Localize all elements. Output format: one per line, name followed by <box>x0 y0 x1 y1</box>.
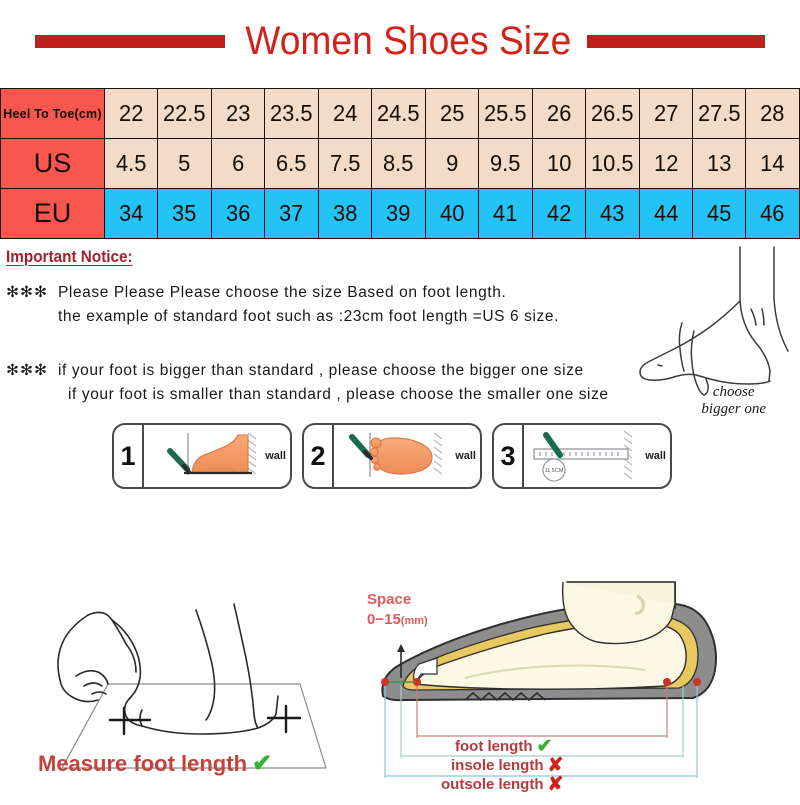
cell-value: 46 <box>748 200 798 227</box>
cell-eu-7: 41 <box>479 189 532 239</box>
cell-us-6: 9 <box>425 139 478 189</box>
notice-heading: Important Notice: <box>6 247 133 267</box>
step-illustration-top-foot: wall <box>334 425 480 487</box>
cell-eu-9: 43 <box>586 189 639 239</box>
check-icon: ✔ <box>252 750 272 777</box>
page-title-band: Women Shoes Size <box>0 0 800 88</box>
cell-eu-8: 42 <box>532 189 585 239</box>
measure-foot-panel: Measure foot length✔ <box>0 568 345 800</box>
cell-us-5: 8.5 <box>372 139 425 189</box>
cell-us-7: 9.5 <box>479 139 532 189</box>
cell-value: 7.5 <box>320 150 370 177</box>
step-card-1: 1 <box>112 423 292 489</box>
cell-value: 14 <box>748 150 798 177</box>
cell-us-3: 6.5 <box>265 139 318 189</box>
cell-value: 28 <box>748 100 798 127</box>
notice-text: Please Please Please choose the size Bas… <box>58 284 506 301</box>
cell-value: 34 <box>106 200 156 227</box>
cell-us-10: 12 <box>639 139 692 189</box>
size-chart-table: Heel To Toe(cm) 22 22.5 23 23.5 24 24.5 … <box>0 88 800 239</box>
notice-text: if your foot is bigger than standard , p… <box>58 362 584 379</box>
table-row: EU 34 35 36 37 38 39 40 41 42 43 44 45 4… <box>1 189 800 239</box>
dimension-labels: foot length ✔ insole length ✘ outsole le… <box>441 737 781 794</box>
step-number: 2 <box>304 425 334 487</box>
important-notice-section: Important Notice: ✻✻✻Please Please Pleas… <box>0 239 800 407</box>
cell-value: 8.5 <box>374 150 424 177</box>
cross-icon: ✘ <box>548 756 564 775</box>
cell-value: 41 <box>480 200 530 227</box>
size-chart-body: Heel To Toe(cm) 22 22.5 23 23.5 24 24.5 … <box>1 89 800 239</box>
cell-value: 5 <box>160 150 210 177</box>
cell-heel-3: 23.5 <box>265 89 318 139</box>
dimension-label: insole length <box>451 757 544 775</box>
cell-value: 45 <box>694 200 744 227</box>
cell-us-4: 7.5 <box>318 139 371 189</box>
cell-value: 24 <box>320 100 370 127</box>
cell-eu-12: 46 <box>746 189 800 239</box>
cell-value: 4.5 <box>106 150 156 177</box>
space-callout: Space 0−15(mm) <box>367 590 428 631</box>
cell-value: 13 <box>694 150 744 177</box>
step-card-3: 3 <box>492 423 672 489</box>
cell-heel-12: 28 <box>746 89 800 139</box>
cell-value: 26.5 <box>587 100 637 127</box>
table-row: Heel To Toe(cm) 22 22.5 23 23.5 24 24.5 … <box>1 89 800 139</box>
cell-value: 24.5 <box>374 100 424 127</box>
cell-value: 39 <box>374 200 424 227</box>
cell-value: 27 <box>641 100 691 127</box>
dimension-row-outsole-length: outsole length ✘ <box>441 775 781 794</box>
cell-value: 25 <box>427 100 477 127</box>
cell-value: 38 <box>320 200 370 227</box>
step-card-2: 2 <box>302 423 482 489</box>
cell-heel-10: 27 <box>639 89 692 139</box>
row-header-heel-to-toe: Heel To Toe(cm) <box>1 89 105 139</box>
cell-heel-8: 26 <box>532 89 585 139</box>
bullet-asterisks-icon: ✻✻✻ <box>6 362 48 379</box>
cell-eu-1: 35 <box>158 189 211 239</box>
cell-us-9: 10.5 <box>586 139 639 189</box>
cell-value: 22 <box>106 100 156 127</box>
step-illustration-ruler: 11.5CM wall <box>524 425 670 487</box>
dimension-label: outsole length <box>441 776 544 794</box>
shoe-cross-section-panel: Space 0−15(mm) foot length ✔ insole leng… <box>345 568 800 800</box>
cell-value: 10.5 <box>587 150 637 177</box>
cell-value: 22.5 <box>160 100 210 127</box>
table-row: US 4.5 5 6 6.5 7.5 8.5 9 9.5 10 10.5 12 … <box>1 139 800 189</box>
check-icon: ✔ <box>536 737 552 756</box>
dimension-label: foot length <box>455 738 532 756</box>
bottom-illustrations: Measure foot length✔ <box>0 568 800 800</box>
cell-heel-0: 22 <box>105 89 158 139</box>
notice-line: the example of standard foot such as :23… <box>6 305 800 329</box>
row-header-us: US <box>1 139 105 189</box>
notice-block-2: ✻✻✻if your foot is bigger than standard … <box>6 359 800 407</box>
cell-heel-4: 24 <box>318 89 371 139</box>
cell-value: 42 <box>534 200 584 227</box>
wall-label: wall <box>455 450 476 462</box>
space-title: Space <box>367 590 428 610</box>
cell-eu-5: 39 <box>372 189 425 239</box>
ruler-mark-text: 11.5CM <box>545 468 564 474</box>
cell-value: 23 <box>213 100 263 127</box>
cell-eu-10: 44 <box>639 189 692 239</box>
cell-eu-0: 34 <box>105 189 158 239</box>
step-number: 1 <box>114 425 144 487</box>
space-unit: (mm) <box>401 615 428 627</box>
cell-us-1: 5 <box>158 139 211 189</box>
step-illustration-side-foot: wall <box>144 425 290 487</box>
space-value-row: 0−15(mm) <box>367 610 428 630</box>
cell-value: 40 <box>427 200 477 227</box>
cell-eu-11: 45 <box>692 189 745 239</box>
cell-us-2: 6 <box>211 139 264 189</box>
cell-value: 9 <box>427 150 477 177</box>
cell-value: 25.5 <box>480 100 530 127</box>
cell-us-8: 10 <box>532 139 585 189</box>
cell-heel-11: 27.5 <box>692 89 745 139</box>
dimension-row-foot-length: foot length ✔ <box>441 737 781 756</box>
row-header-eu: EU <box>1 189 105 239</box>
step-number: 3 <box>494 425 524 487</box>
cell-heel-9: 26.5 <box>586 89 639 139</box>
cell-value: 43 <box>587 200 637 227</box>
cell-eu-4: 38 <box>318 189 371 239</box>
dimension-row-insole-length: insole length ✘ <box>441 756 781 775</box>
cell-value: 36 <box>213 200 263 227</box>
space-value: 0−15 <box>367 611 401 628</box>
cell-heel-2: 23 <box>211 89 264 139</box>
cell-value: 27.5 <box>694 100 744 127</box>
cell-value: 10 <box>534 150 584 177</box>
bullet-asterisks-icon: ✻✻✻ <box>6 284 48 301</box>
cell-us-11: 13 <box>692 139 745 189</box>
cell-heel-5: 24.5 <box>372 89 425 139</box>
measure-label-text: Measure foot length <box>38 751 247 776</box>
cell-value: 9.5 <box>480 150 530 177</box>
cell-value: 12 <box>641 150 691 177</box>
cell-value: 44 <box>641 200 691 227</box>
wall-label: wall <box>265 450 286 462</box>
notice-block-1: ✻✻✻Please Please Please choose the size … <box>6 281 800 329</box>
cell-eu-3: 37 <box>265 189 318 239</box>
page-title: Women Shoes Size <box>245 21 571 61</box>
wall-label: wall <box>645 450 666 462</box>
title-rule-left <box>35 35 225 48</box>
spacer <box>6 329 800 345</box>
cell-eu-6: 40 <box>425 189 478 239</box>
cell-value: 26 <box>534 100 584 127</box>
cell-us-0: 4.5 <box>105 139 158 189</box>
notice-line: if your foot is smaller than standard , … <box>6 383 800 407</box>
cross-icon: ✘ <box>548 775 564 794</box>
cell-value: 37 <box>267 200 317 227</box>
cell-value: 6 <box>213 150 263 177</box>
cell-value: 23.5 <box>267 100 317 127</box>
cell-value: 35 <box>160 200 210 227</box>
cell-value: 6.5 <box>267 150 317 177</box>
notice-line: ✻✻✻if your foot is bigger than standard … <box>6 359 800 383</box>
title-rule-right <box>587 35 765 48</box>
cell-us-12: 14 <box>746 139 800 189</box>
notice-line: ✻✻✻Please Please Please choose the size … <box>6 281 800 305</box>
cell-heel-1: 22.5 <box>158 89 211 139</box>
cell-heel-7: 25.5 <box>479 89 532 139</box>
measure-foot-length-label: Measure foot length✔ <box>38 749 272 778</box>
measurement-steps: 1 <box>0 423 800 489</box>
cell-eu-2: 36 <box>211 189 264 239</box>
cell-heel-6: 25 <box>425 89 478 139</box>
